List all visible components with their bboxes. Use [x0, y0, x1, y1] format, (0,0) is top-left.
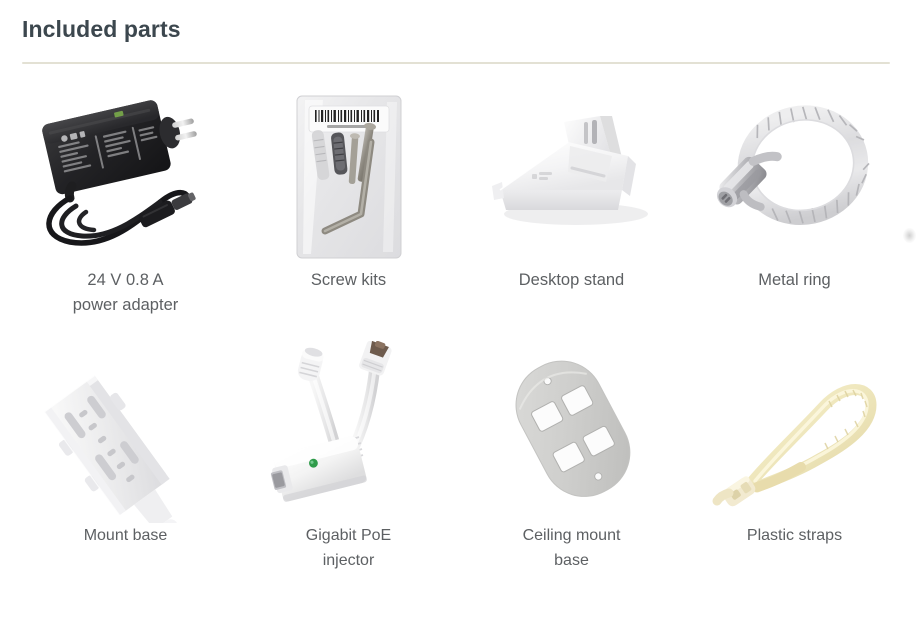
part-label-ceiling-mount-base: Ceiling mount base: [472, 523, 672, 573]
included-parts-page: Included parts: [0, 0, 920, 625]
ceiling-mount-base-image: [472, 341, 672, 523]
part-item-gigabit-poe-injector: Gigabit PoE injector: [237, 341, 460, 596]
part-label-desktop-stand: Desktop stand: [472, 268, 672, 293]
part-item-metal-ring: Metal ring: [683, 86, 906, 341]
part-label-metal-ring: Metal ring: [695, 268, 895, 293]
part-label-line2: base: [554, 552, 589, 569]
part-label-line1: 24 V 0.8 A: [87, 271, 163, 289]
power-adapter-image: [26, 86, 226, 268]
page-title: Included parts: [22, 14, 890, 44]
parts-grid: 24 V 0.8 A power adapter: [14, 86, 906, 596]
mount-base-image: [26, 341, 226, 523]
part-label-line1: Plastic straps: [747, 527, 842, 544]
metal-ring-image: [695, 86, 895, 268]
part-item-mount-base: Mount base: [14, 341, 237, 596]
part-item-plastic-straps: Plastic straps: [683, 341, 906, 596]
part-label-line2: injector: [323, 552, 375, 569]
part-label-power-adapter: 24 V 0.8 A power adapter: [26, 268, 226, 318]
part-label-screw-kits: Screw kits: [249, 268, 449, 293]
edge-artifact: [903, 228, 916, 243]
part-label-line1: Ceiling mount: [523, 527, 621, 544]
part-label-plastic-straps: Plastic straps: [695, 523, 895, 548]
part-item-screw-kits: Screw kits: [237, 86, 460, 341]
desktop-stand-image: [472, 86, 672, 268]
part-label-line1: Screw kits: [311, 271, 386, 289]
part-item-ceiling-mount-base: Ceiling mount base: [460, 341, 683, 596]
plastic-straps-image: [695, 341, 895, 523]
part-label-gigabit-poe-injector: Gigabit PoE injector: [249, 523, 449, 573]
part-item-power-adapter: 24 V 0.8 A power adapter: [14, 86, 237, 341]
part-label-line1: Desktop stand: [519, 271, 624, 289]
screw-kits-image: [249, 86, 449, 268]
part-label-line1: Mount base: [84, 527, 168, 544]
gigabit-poe-injector-image: [249, 341, 449, 523]
part-item-desktop-stand: Desktop stand: [460, 86, 683, 341]
part-label-mount-base: Mount base: [26, 523, 226, 548]
part-label-line1: Metal ring: [758, 271, 830, 289]
part-label-line1: Gigabit PoE: [306, 527, 391, 544]
page-header: Included parts: [22, 14, 890, 44]
part-label-line2: power adapter: [73, 296, 179, 314]
header-divider: [22, 62, 890, 64]
